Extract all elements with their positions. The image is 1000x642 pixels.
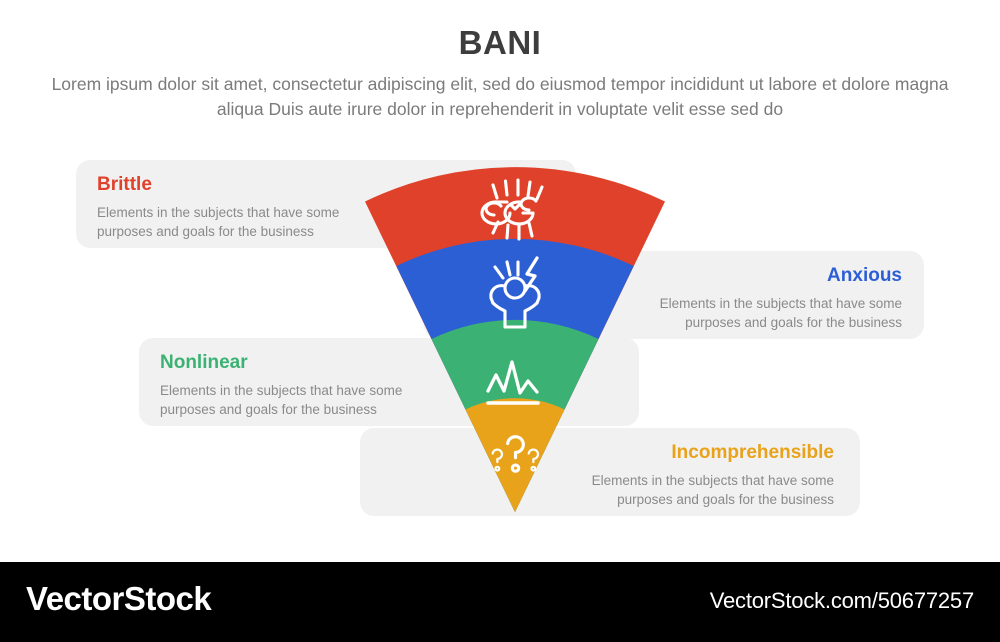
infographic-canvas: BANI Lorem ipsum dolor sit amet, consect…	[0, 0, 1000, 642]
footer-bar: VectorStock VectorStock.com/50677257	[0, 562, 1000, 642]
vectorstock-url: VectorStock.com/50677257	[710, 588, 974, 614]
page-subtitle: Lorem ipsum dolor sit amet, consectetur …	[50, 72, 950, 122]
funnel-cone-chart	[355, 158, 685, 520]
vectorstock-logo: VectorStock	[26, 580, 211, 618]
page-title: BANI	[0, 24, 1000, 62]
funnel-segment-incomprehensible	[466, 398, 565, 512]
